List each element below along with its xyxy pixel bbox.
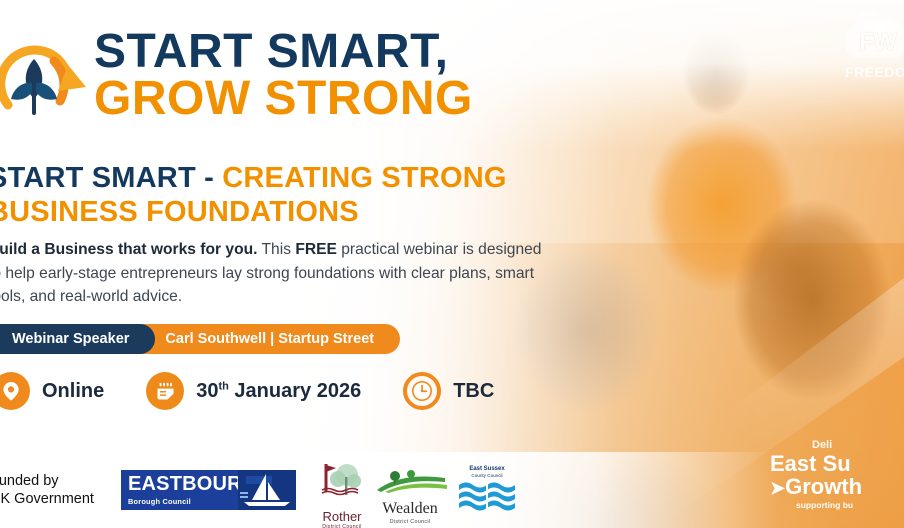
- freedom-works-logo: FW FREEDOM: [845, 22, 904, 84]
- footer-logos: Funded by UK Government EASTBOURNE Borou…: [0, 452, 904, 528]
- date-day: 30: [196, 380, 218, 402]
- detail-date: 30th January 2026: [146, 372, 361, 410]
- webinar-promo-poster: FW FREEDOM START SMART, GROW STRONG STAR…: [0, 0, 904, 528]
- growth-line-2-text: Growth: [785, 474, 862, 499]
- east-sussex-county-council-logo: East Sussex County Council: [459, 466, 515, 516]
- tree-icon: [311, 460, 373, 509]
- funded-by-uk-government-logo: Funded by UK Government: [0, 472, 94, 508]
- headline-navy: START SMART -: [0, 162, 222, 194]
- waves-icon: [459, 479, 515, 516]
- wealden-sub: District Council: [371, 519, 449, 525]
- growth-delivered-by: Deli: [812, 439, 904, 451]
- detail-date-text: 30th January 2026: [196, 380, 361, 403]
- detail-time-text: TBC: [453, 380, 494, 403]
- rother-district-council-logo: Rother District Council: [311, 460, 373, 528]
- eastbourne-borough-council-logo: EASTBOURNE Borough Council: [121, 470, 296, 510]
- growth-line-3: supporting bu: [796, 500, 904, 510]
- fw-letters: FW: [859, 28, 896, 57]
- brand-title: START SMART, GROW STRONG: [94, 28, 473, 124]
- funded-line-2: UK Government: [0, 490, 94, 508]
- hills-trees-icon: [371, 468, 449, 499]
- growth-line-1: East Su: [770, 453, 904, 475]
- clock-icon: [403, 372, 441, 410]
- speaker-bar: Webinar Speaker Carl Southwell | Startup…: [0, 324, 400, 354]
- funded-line-1: Funded by: [0, 472, 94, 490]
- rother-sub: District Council: [311, 524, 373, 528]
- page-title: START SMART - CREATING STRONG BUSINESS F…: [0, 162, 608, 229]
- detail-location-text: Online: [42, 380, 104, 403]
- growth-line-2: ➤Growth: [770, 476, 904, 498]
- plant-growth-arrow-icon: [0, 25, 92, 125]
- event-details: Online 30th January 2026: [0, 372, 536, 410]
- wealden-name: Wealden: [371, 501, 449, 517]
- date-ordinal: th: [218, 380, 228, 392]
- title-line-1: START SMART,: [94, 28, 473, 77]
- title-line-2: GROW STRONG: [94, 75, 473, 124]
- east-sussex-growth-hub-logo: Deli East Su ➤Growth supporting bu: [770, 439, 904, 510]
- esussex-name: East Sussex: [459, 466, 515, 473]
- date-rest: January 2026: [229, 380, 361, 402]
- wealden-district-council-logo: Wealden District Council: [371, 468, 449, 525]
- speaker-name: Carl Southwell | Startup Street: [135, 324, 400, 354]
- chevron-right-icon: ➤: [770, 478, 785, 498]
- description-free: FREE: [295, 241, 337, 258]
- sailboat-icon: [238, 470, 296, 510]
- location-pin-icon: [0, 372, 30, 410]
- detail-time: TBC: [403, 372, 494, 410]
- detail-location: Online: [0, 372, 104, 410]
- calendar-icon: [146, 372, 184, 410]
- description-text-1: This: [257, 241, 295, 258]
- description-lead: Build a Business that works for you.: [0, 241, 257, 258]
- rother-name: Rother: [311, 510, 373, 523]
- freedom-wordmark: FREEDOM: [845, 64, 904, 80]
- speaker-label: Webinar Speaker: [0, 324, 155, 354]
- description-text: Build a Business that works for you. Thi…: [0, 238, 548, 309]
